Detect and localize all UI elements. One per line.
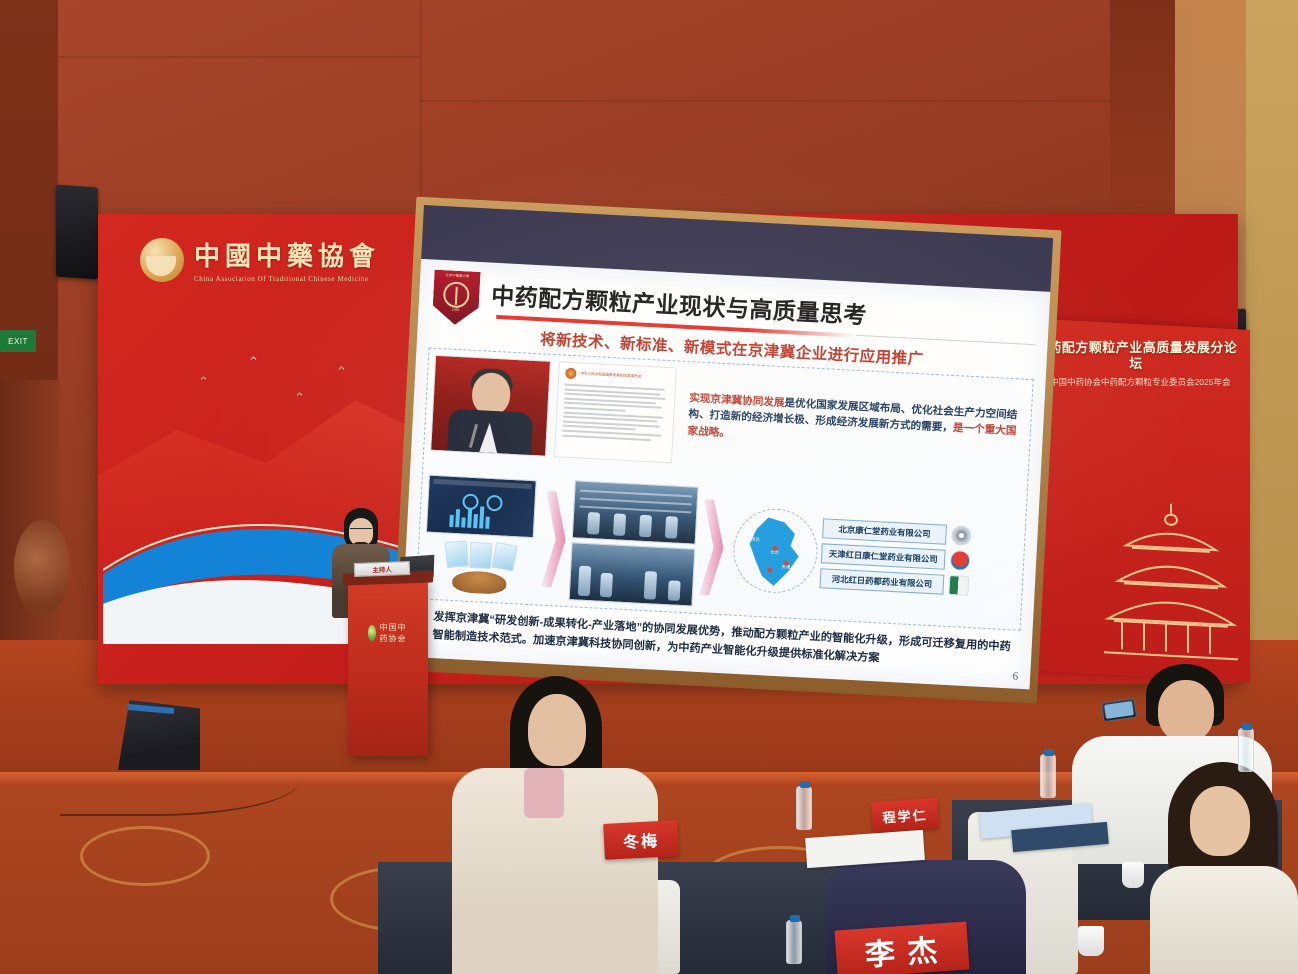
- factory-equipment-photo: [569, 542, 696, 606]
- podium-nameplate: 主持人: [354, 561, 410, 577]
- association-logo-text-en: China Association Of Traditional Chinese…: [194, 275, 380, 283]
- projection-screen: 北京中醫藥大學 1956 中药配方颗粒产业现状与高质量思考 将新技术、新标准、新…: [400, 205, 1053, 697]
- bird-icon: ⌃: [248, 354, 259, 370]
- company-name: 北京康仁堂药业有限公司: [822, 518, 947, 544]
- granule-sachets: [424, 540, 537, 572]
- region-map: 河北 北京 天津: [731, 507, 819, 595]
- right-wall-edge: [1246, 0, 1298, 660]
- water-bottle[interactable]: [786, 920, 802, 964]
- podium-logo-text: 中国中药协会: [379, 622, 408, 644]
- bird-icon: ⌃: [294, 390, 305, 406]
- wall-seam: [420, 100, 1120, 102]
- carpet-pattern: [80, 826, 210, 886]
- title-underline-thin: [856, 335, 1036, 345]
- national-emblem-icon: [565, 368, 577, 380]
- slide-title: 中药配方颗粒产业现状与高质量思考: [491, 277, 868, 331]
- digital-dashboard-image: [426, 475, 537, 539]
- slide-top-row: 中华人民共和国国家发展和改革委员会: [430, 355, 1027, 490]
- scarf: [524, 768, 564, 818]
- granules-pile: [452, 570, 507, 595]
- paper-cup[interactable]: [1122, 862, 1144, 888]
- slide-page-number: 6: [1012, 670, 1018, 682]
- bird-icon: ⌃: [198, 374, 209, 390]
- association-logo-mark: [140, 238, 184, 282]
- leader-photo: [430, 355, 551, 457]
- association-logo-text-cn: 中國中藥協會: [194, 236, 380, 273]
- company-row: 河北红日药都药业有限公司: [819, 568, 969, 596]
- nameplate-text: 程学仁: [882, 804, 928, 826]
- table-nameplate-dongmei: 冬梅: [603, 820, 679, 860]
- quote-highlight-lead: 实现京津冀协同发展: [689, 392, 785, 409]
- map-label-hebei: 河北: [751, 537, 760, 543]
- podium-nameplate-text: 主持人: [372, 564, 392, 575]
- conference-hall-scene: EXIT ⌃ ⌃ ⌃ ⌃ ⌃ 中國中藥協會 China Association …: [0, 0, 1298, 974]
- process-arrow-icon: [699, 499, 726, 596]
- forum-banner: 中药配方颗粒产业高质量发展分论坛 暨中国中药协会中药配方颗粒专业委员会2025年…: [1022, 318, 1250, 682]
- hebei-hongri-yaodu-logo-icon: [948, 575, 969, 596]
- university-badge-icon: 北京中醫藥大學 1956: [432, 270, 481, 326]
- slide-content-box: 中华人民共和国国家发展和改革委员会: [415, 347, 1033, 630]
- company-row: 北京康仁堂药业有限公司: [822, 518, 972, 546]
- document-header-text: 中华人民共和国国家发展和改革委员会: [580, 372, 641, 380]
- presentation-slide: 北京中醫藥大學 1956 中药配方颗粒产业现状与高质量思考 将新技术、新标准、新…: [400, 259, 1050, 689]
- hongri-kangrentang-logo-icon: [950, 550, 971, 571]
- forum-banner-title: 中药配方颗粒产业高质量发展分论坛: [1032, 340, 1240, 373]
- ceiling-speaker-left: [56, 185, 98, 280]
- digital-process-column: [423, 475, 541, 597]
- table-nameplate-lijie: 李 杰: [834, 921, 969, 974]
- podium-logo: 中国中药协会: [368, 622, 408, 644]
- wall-seam: [0, 56, 420, 58]
- banner-temple-icon: [1096, 494, 1246, 672]
- policy-quote: 实现京津冀协同发展是优化国家发展区域布局、优化社会生产力空间结构、打造新的经济增…: [679, 368, 1026, 490]
- flower-emblem-logo-icon: [951, 525, 972, 546]
- speaker-podium: 主持人 中国中药协会: [348, 578, 428, 756]
- podium-logo-mark-icon: [368, 625, 376, 641]
- bird-icon: ⌃: [336, 364, 347, 380]
- table-nameplate-chengxueren: 程学仁: [871, 798, 939, 833]
- water-bottle[interactable]: [1040, 754, 1056, 798]
- factory-photos-column: [569, 480, 699, 606]
- forum-banner-subtitle: 暨中国中药协会中药配方颗粒专业委员会2025年会: [1032, 376, 1240, 388]
- paper-cup[interactable]: [1078, 926, 1104, 956]
- policy-document-thumbnail: 中华人民共和国国家发展和改革委员会: [554, 361, 677, 463]
- wall-seam: [420, 0, 422, 230]
- company-name: 河北红日药都药业有限公司: [819, 568, 944, 594]
- process-arrow-icon: [541, 491, 568, 588]
- glasses-icon: [350, 528, 372, 534]
- wall-medallion: [14, 520, 70, 616]
- jingjinji-map-section: 河北 北京 天津 北京康仁堂药业有限公司: [727, 507, 1019, 606]
- company-list: 北京康仁堂药业有限公司 天津红日康仁堂药业有限公司 河北红日药都药业有限公司: [819, 518, 971, 596]
- audience-person-right-lower: [1150, 762, 1298, 974]
- backdrop-association-logo: 中國中藥協會 China Association Of Traditional …: [140, 236, 380, 283]
- document-body-lines: [562, 384, 669, 442]
- company-row: 天津红日康仁堂药业有限公司: [821, 543, 971, 571]
- water-bottle[interactable]: [1238, 728, 1254, 772]
- slide-bottom-row: 河北 北京 天津 北京康仁堂药业有限公司: [422, 467, 1020, 630]
- exit-sign: EXIT: [0, 330, 36, 352]
- nameplate-text: 李 杰: [863, 925, 940, 974]
- company-name: 天津红日康仁堂药业有限公司: [821, 543, 946, 569]
- nameplate-text: 冬梅: [622, 827, 659, 853]
- production-line-photo: [572, 480, 699, 544]
- water-bottle[interactable]: [796, 786, 812, 830]
